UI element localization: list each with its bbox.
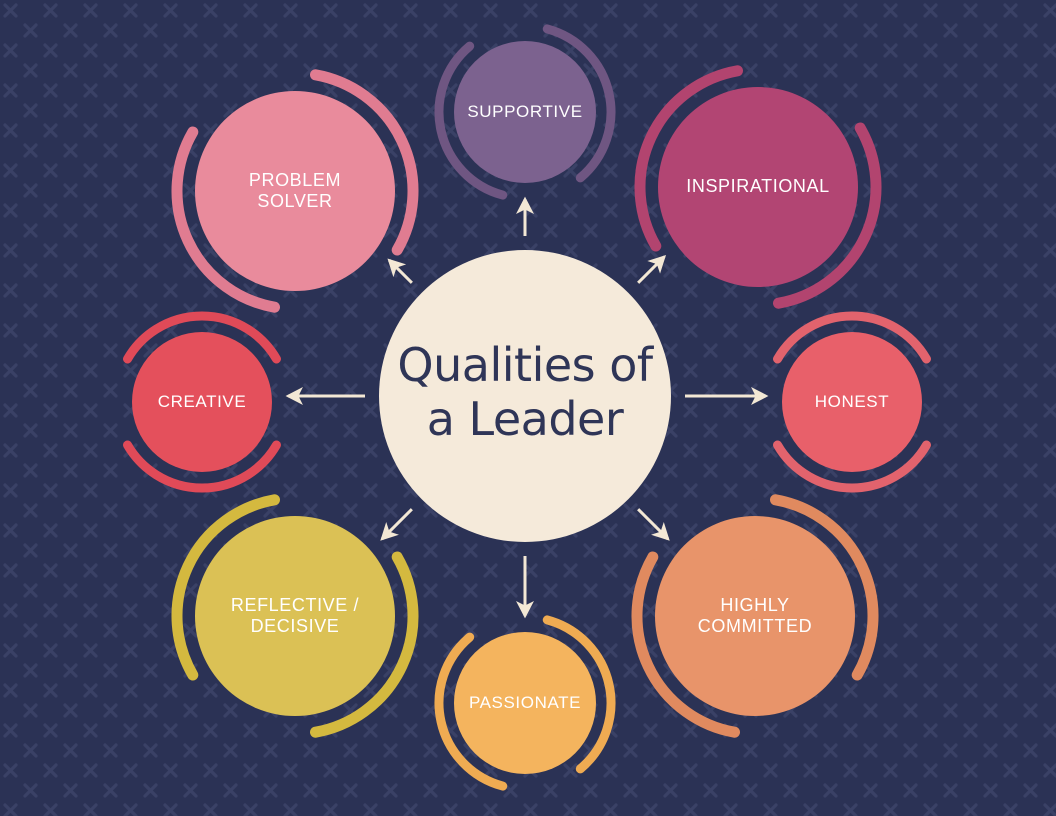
node-circle-creative[interactable] xyxy=(132,332,272,472)
node-circle-reflective-decisive[interactable] xyxy=(195,516,395,716)
arrow-down-right xyxy=(638,509,668,539)
node-circle-honest[interactable] xyxy=(782,332,922,472)
node-circle-highly-committed[interactable] xyxy=(655,516,855,716)
node-circle-inspirational[interactable] xyxy=(658,87,858,287)
arrow-down-left xyxy=(382,509,412,539)
infographic-canvas: Qualities of a Leader PROBLEM SOLVERSUPP… xyxy=(0,0,1056,816)
node-circle-problem-solver[interactable] xyxy=(195,91,395,291)
arrow-up-right xyxy=(638,257,664,283)
arrow-up-left xyxy=(389,260,412,283)
node-circle-supportive[interactable] xyxy=(454,41,596,183)
node-circle-passionate[interactable] xyxy=(454,632,596,774)
center-title: Qualities of a Leader xyxy=(379,338,671,447)
